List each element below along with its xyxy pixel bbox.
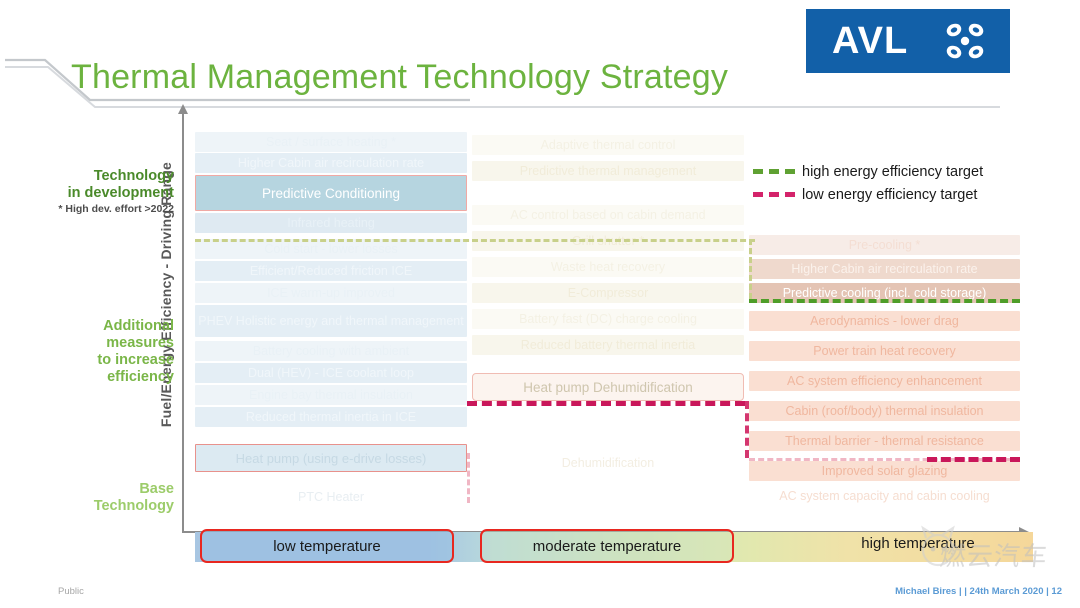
band-subtitle: * High dev. effort >2022	[14, 203, 174, 215]
tech-item[interactable]: Battery cooling with ambient	[195, 341, 467, 361]
band-title-line3: to increase	[14, 352, 174, 369]
y-axis-line	[182, 113, 184, 533]
tech-item[interactable]: Cold start - lower losses	[195, 239, 467, 259]
tech-item[interactable]: Reduced thermal inertia in ICE	[195, 407, 467, 427]
tech-item[interactable]: Predictive thermal management	[472, 161, 744, 181]
legend-label: high energy efficiency target	[802, 164, 983, 180]
legend-dash-pink-icon	[753, 192, 795, 197]
tech-item-dehumidification[interactable]: Dehumidification	[472, 453, 744, 473]
tech-item[interactable]: Pre-cooling *	[749, 235, 1020, 255]
tech-item[interactable]: Thermal barrier - thermal resistance	[749, 431, 1020, 451]
temperature-label-moderate[interactable]: moderate temperature	[480, 529, 734, 563]
legend-item-low-target: low energy efficiency target	[753, 183, 983, 206]
tech-item[interactable]: E-Compressor	[472, 283, 744, 303]
tech-item[interactable]: Cabin (roof/body) thermal insulation	[749, 401, 1020, 421]
band-title-line1: Technology	[14, 168, 174, 185]
band-title-line1: Additional	[14, 318, 174, 335]
legend: high energy efficiency target low energy…	[753, 160, 983, 206]
legend-label: low energy efficiency target	[802, 187, 977, 203]
legend-item-high-target: high energy efficiency target	[753, 160, 983, 183]
tech-item[interactable]: Higher Cabin air recirculation rate	[749, 259, 1020, 279]
low-efficiency-target-connector-left	[467, 453, 470, 503]
tech-item[interactable]: Engine bay thermal insulation	[195, 385, 467, 405]
page-title: Thermal Management Technology Strategy	[71, 58, 728, 97]
tech-item-heat-pump-dehumidification[interactable]: Heat pump Dehumidification	[472, 373, 744, 401]
tech-item[interactable]: Battery fast (DC) charge cooling	[472, 309, 744, 329]
temperature-label-high: high temperature	[803, 535, 1033, 552]
tech-item-ac-system-capacity[interactable]: AC system capacity and cabin cooling	[749, 477, 1020, 517]
band-label-additional-measures: Additional measures to increase efficien…	[14, 318, 174, 386]
tech-item[interactable]: Dual (HEV) - ICE coolant loop	[195, 363, 467, 383]
tech-item[interactable]: Reduced battery thermal inertia	[472, 335, 744, 355]
low-efficiency-target-connector-right	[745, 401, 749, 458]
temperature-axis-band: low temperature moderate temperature hig…	[195, 532, 1033, 562]
tech-item[interactable]: Higher Cabin air recirculation rate	[195, 153, 467, 173]
tech-item[interactable]: ICE warm-up improved	[195, 283, 467, 303]
tech-item[interactable]: Efficient/Reduced friction ICE	[195, 261, 467, 281]
tech-item-predictive-conditioning[interactable]: Predictive Conditioning	[195, 175, 467, 211]
tech-item[interactable]: AC control based on cabin demand	[472, 205, 744, 225]
band-label-base-technology: Base Technology	[14, 481, 174, 515]
high-efficiency-target-connector	[749, 239, 752, 299]
footer-credit: Michael Bires | | 24th March 2020 | 12	[895, 586, 1062, 597]
column-moderate-temperature: Adaptive thermal control Predictive ther…	[472, 113, 744, 533]
band-title-line4: efficiency	[14, 369, 174, 386]
tech-item[interactable]: Infrared heating	[195, 213, 467, 233]
tech-item[interactable]: Adaptive thermal control	[472, 135, 744, 155]
band-title-line1: Base	[14, 481, 174, 498]
tech-item[interactable]: AC system efficiency enhancement	[749, 371, 1020, 391]
high-efficiency-target-line-soft	[195, 239, 755, 242]
band-title-line2: Technology	[14, 498, 174, 515]
tech-item-ptc-heater[interactable]: PTC Heater	[195, 487, 467, 507]
low-efficiency-target-line-end	[927, 457, 1020, 462]
low-efficiency-target-line-strong	[467, 401, 745, 406]
legend-dash-green-icon	[753, 169, 795, 174]
y-axis-arrow	[178, 104, 188, 114]
band-label-technology-in-development: Technology in development * High dev. ef…	[14, 168, 174, 216]
band-title-line2: in development	[14, 185, 174, 202]
high-efficiency-target-line-strong	[749, 299, 1020, 303]
tech-item[interactable]: Power train heat recovery	[749, 341, 1020, 361]
tech-item[interactable]: PHEV Holistic energy and thermal managem…	[195, 305, 467, 337]
band-title-line2: measures	[14, 335, 174, 352]
tech-item[interactable]: Waste heat recovery	[472, 257, 744, 277]
tech-item-heat-pump[interactable]: Heat pump (using e-drive losses)	[195, 444, 467, 472]
column-low-temperature: Seat / surface heating * Higher Cabin ai…	[195, 113, 467, 533]
classification-label: Public	[58, 586, 84, 597]
tech-item[interactable]: Seat / surface heating *	[195, 132, 467, 152]
slide-root: AVL Thermal Management Technology Strate…	[0, 0, 1080, 608]
temperature-label-low[interactable]: low temperature	[200, 529, 454, 563]
tech-item[interactable]: Aerodynamics - lower drag	[749, 311, 1020, 331]
